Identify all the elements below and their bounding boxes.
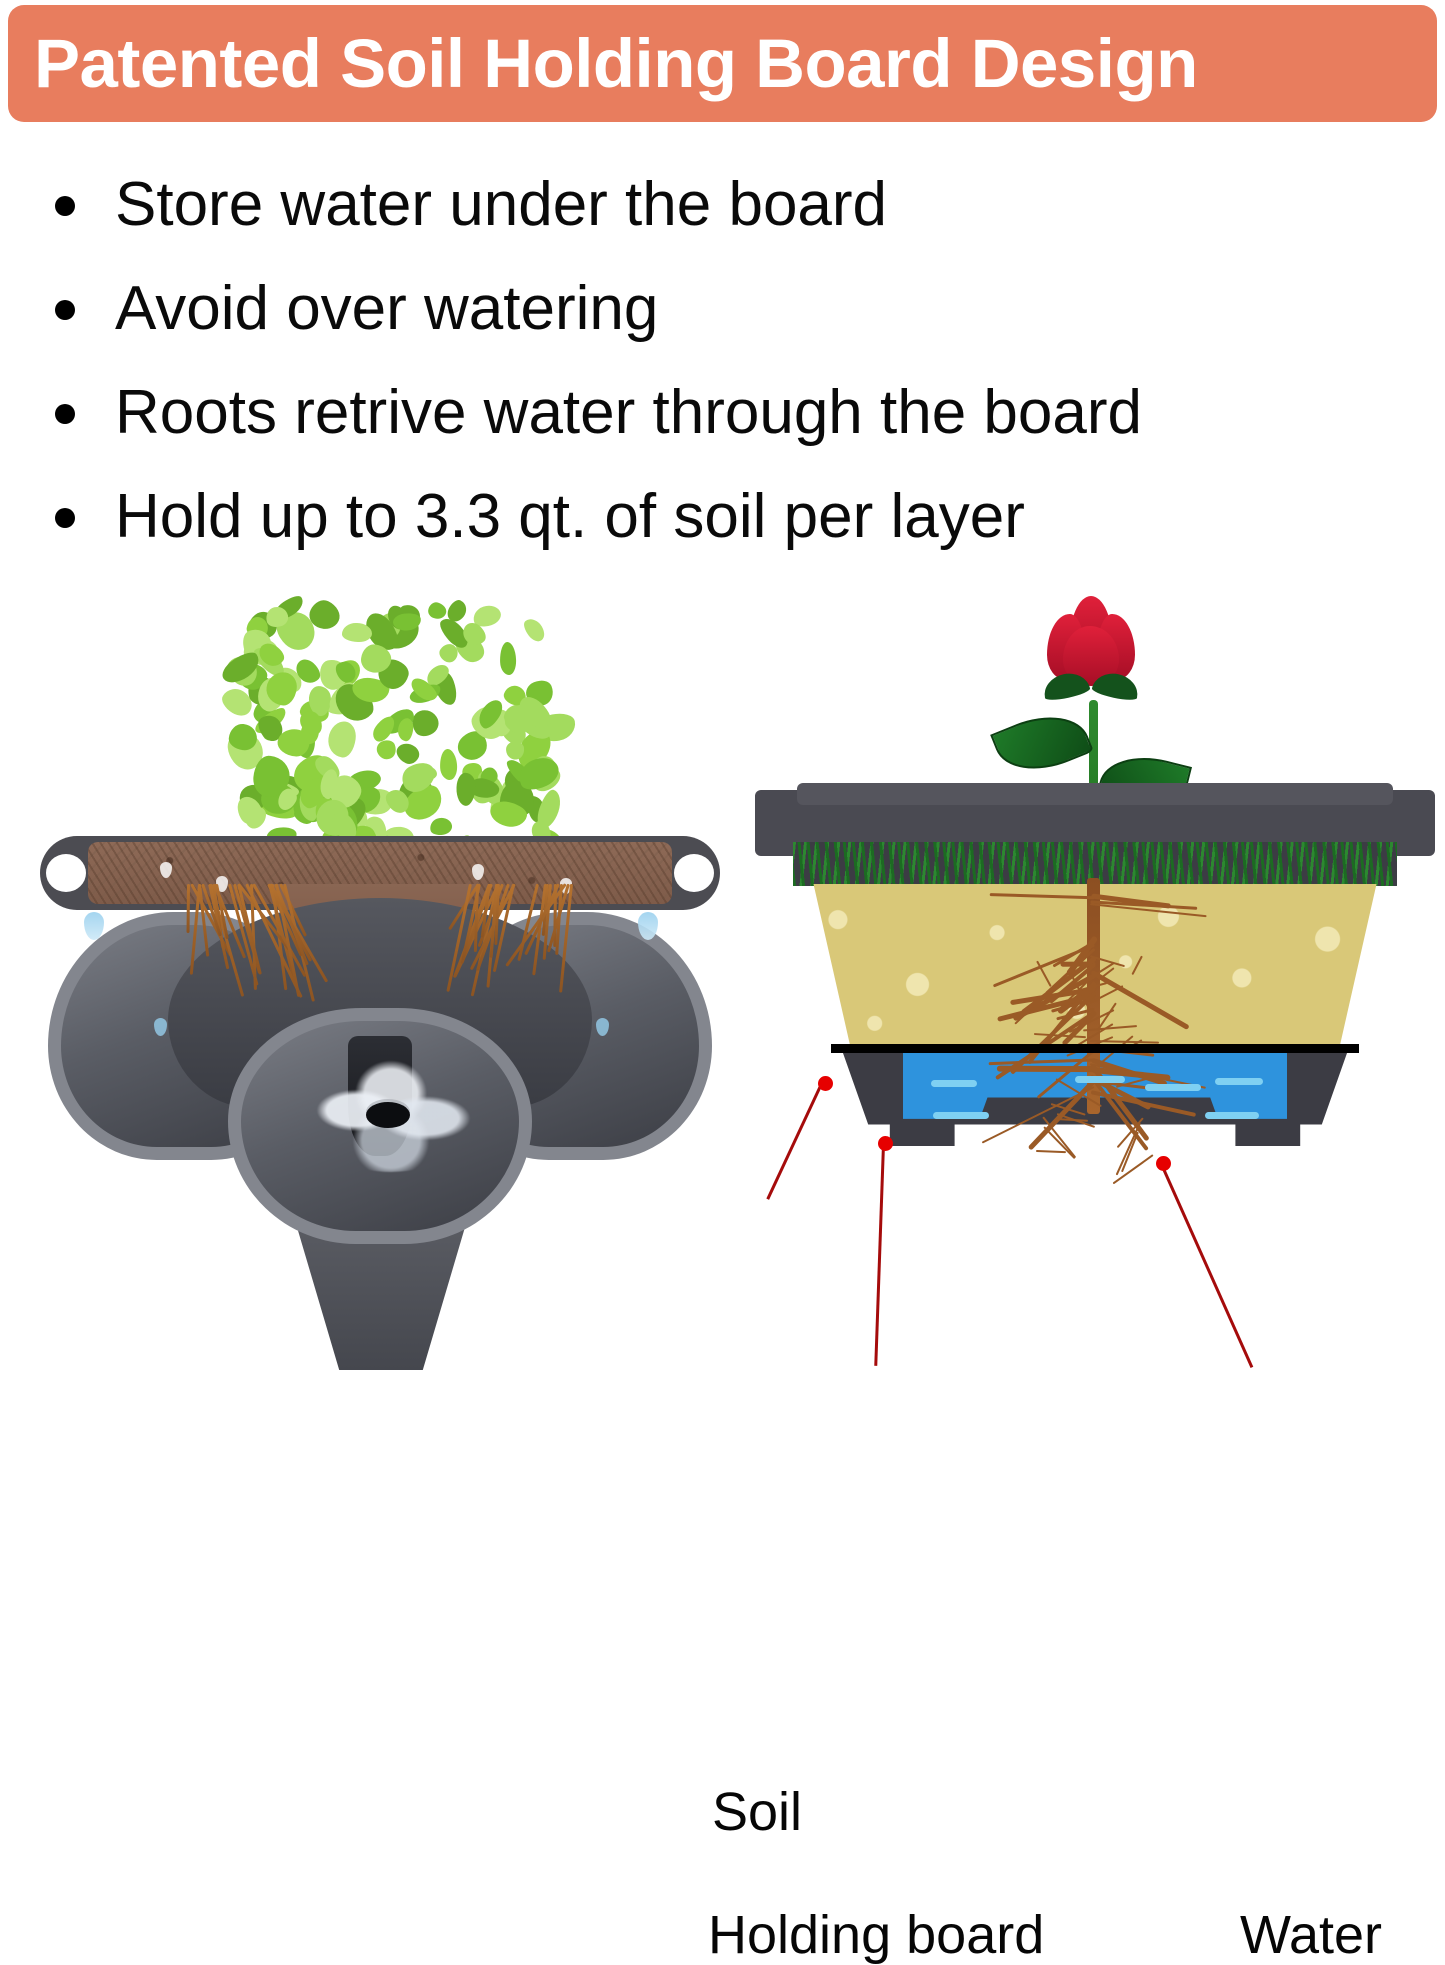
water-wave	[933, 1112, 989, 1119]
board-notch	[46, 854, 86, 892]
header-banner: Patented Soil Holding Board Design	[8, 5, 1437, 122]
bullet-dot-icon	[55, 404, 75, 424]
figure-area: Soil Holding board Water	[0, 560, 1445, 1415]
root-cluster-left	[166, 884, 296, 1016]
callout-anchor-holding-board	[878, 1136, 893, 1151]
bullet-text: Roots retrive water through the board	[115, 368, 1142, 458]
leaf-shape	[455, 773, 476, 806]
cross-section-diagram	[745, 560, 1445, 1415]
list-item: Roots retrive water through the board	[55, 368, 1415, 472]
drain-hole	[366, 1102, 410, 1128]
leaf-shape	[341, 622, 371, 642]
feature-bullet-list: Store water under the board Avoid over w…	[55, 160, 1415, 576]
page-title: Patented Soil Holding Board Design	[34, 24, 1198, 103]
root-cluster-right	[456, 884, 586, 1016]
root-branch	[1043, 1126, 1075, 1159]
holding-board	[831, 1044, 1359, 1053]
water-wave	[931, 1080, 977, 1087]
bullet-dot-icon	[55, 196, 75, 216]
rose-flower	[1039, 596, 1143, 704]
bullet-dot-icon	[55, 300, 75, 320]
root-branch	[990, 893, 1095, 900]
bullet-text: Store water under the board	[115, 160, 887, 250]
water-wave	[1205, 1112, 1259, 1119]
bullet-dot-icon	[55, 508, 75, 528]
water-wave	[1215, 1078, 1263, 1085]
list-item: Store water under the board	[55, 160, 1415, 264]
leaf-shape	[499, 642, 516, 675]
pot-rim-inner	[797, 783, 1393, 805]
root-branch	[1036, 1150, 1066, 1153]
three-lobe-planter	[48, 890, 712, 1370]
bullet-text: Hold up to 3.3 qt. of soil per layer	[115, 472, 1025, 562]
callout-anchor-soil	[818, 1076, 833, 1091]
leaf-shape	[439, 748, 458, 780]
product-photo-planter	[30, 560, 730, 1380]
bullet-text: Avoid over watering	[115, 264, 658, 354]
root-strand	[187, 884, 190, 933]
board-notch	[674, 854, 714, 892]
water-wave	[1145, 1084, 1201, 1091]
callout-label-water: Water	[1240, 1908, 1382, 1962]
leaf-shape	[520, 615, 548, 645]
callout-label-soil: Soil	[712, 1785, 802, 1839]
water-wave	[1075, 1076, 1125, 1083]
list-item: Avoid over watering	[55, 264, 1415, 368]
callout-anchor-water	[1156, 1156, 1171, 1171]
leaf-shape	[326, 720, 357, 759]
rose-leaf	[990, 701, 1094, 785]
root-branch	[1132, 955, 1144, 975]
callout-label-holding-board: Holding board	[708, 1908, 1044, 1962]
root-branch	[1090, 970, 1190, 1030]
